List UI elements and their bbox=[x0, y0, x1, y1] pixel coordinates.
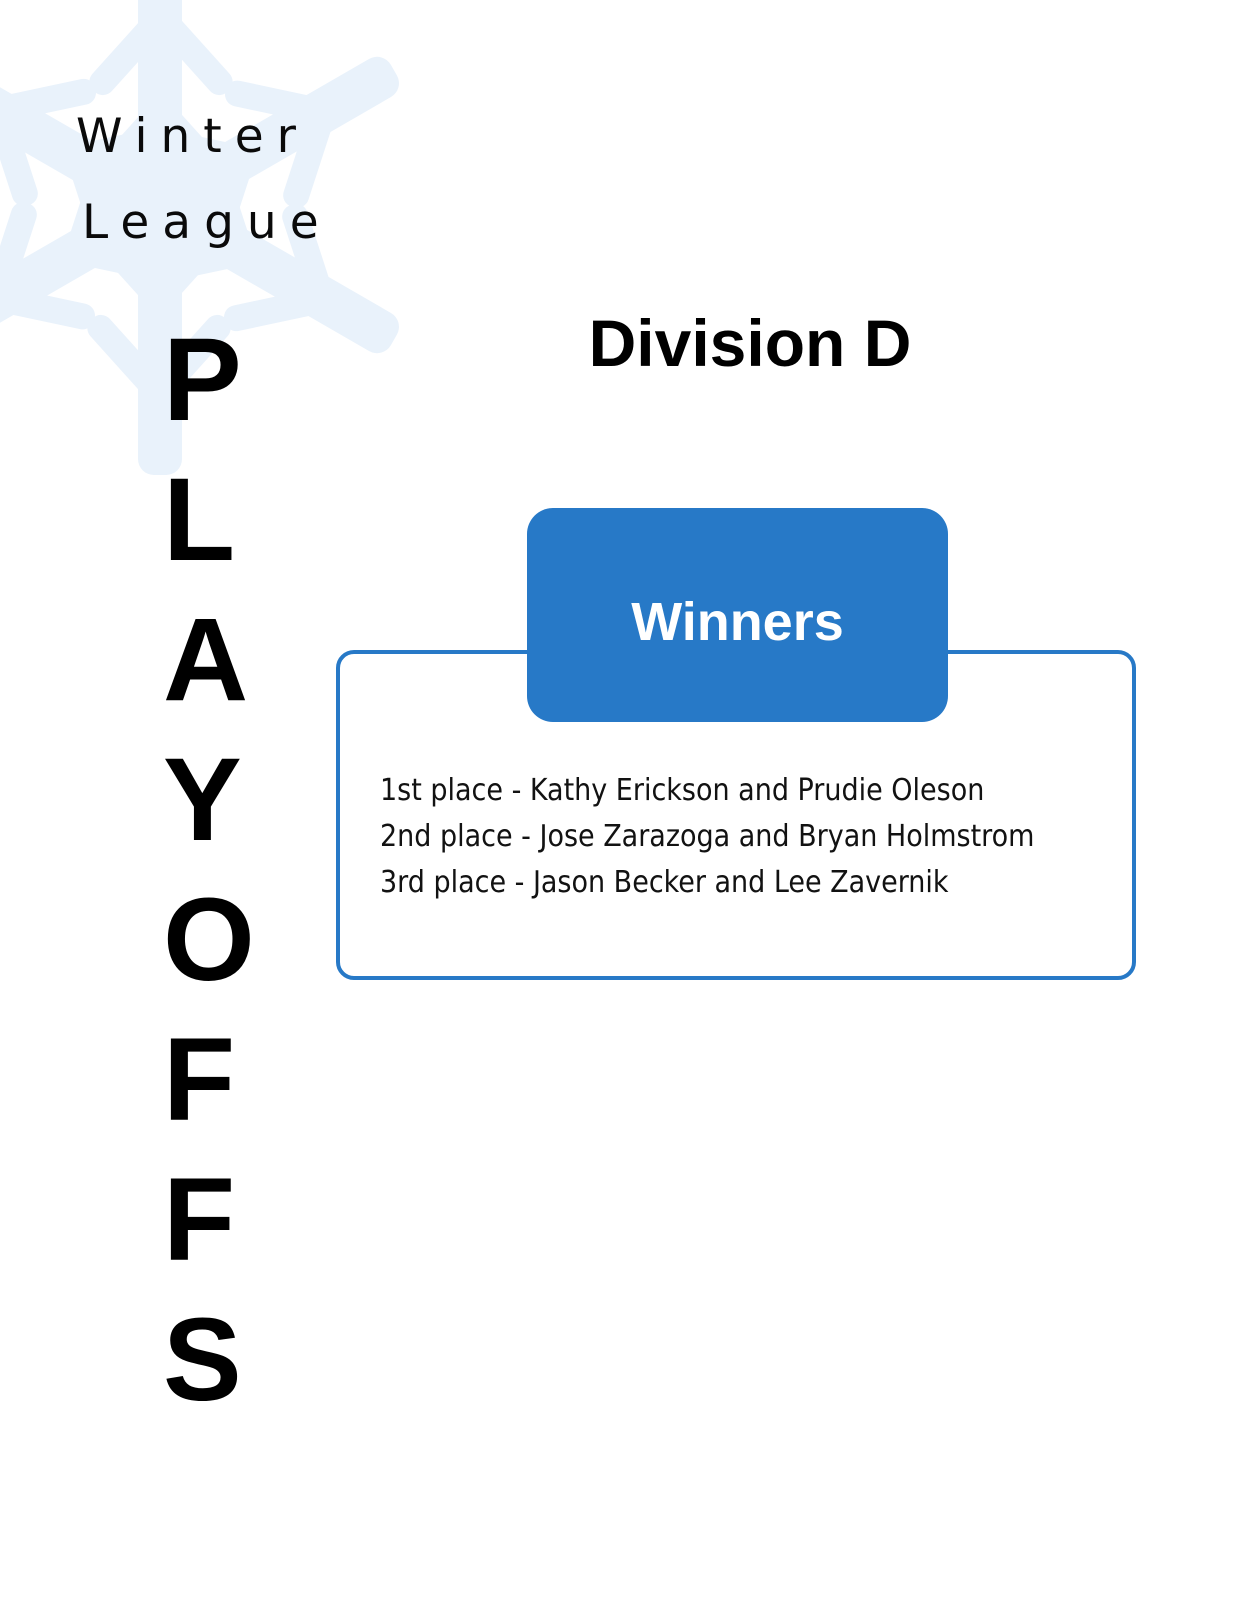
playoffs-poster: Winter League P L A Y O F F S Division D… bbox=[0, 0, 1236, 1600]
playoffs-letter-p: P bbox=[163, 310, 255, 450]
winners-tab: Winners bbox=[527, 508, 948, 722]
division-title: Division D bbox=[410, 303, 1090, 383]
playoffs-letter-o: O bbox=[163, 870, 255, 1010]
playoffs-letter-l: L bbox=[163, 450, 255, 590]
playoffs-letter-f2: F bbox=[163, 1150, 255, 1290]
winner-line-3rd: 3rd place - Jason Becker and Lee Zaverni… bbox=[380, 860, 1120, 906]
winner-line-1st: 1st place - Kathy Erickson and Prudie Ol… bbox=[380, 768, 1120, 814]
playoffs-letter-y: Y bbox=[163, 730, 255, 870]
playoffs-letter-s: S bbox=[163, 1290, 255, 1430]
league-heading-line-2: League bbox=[60, 180, 400, 266]
playoffs-letter-f1: F bbox=[163, 1010, 255, 1150]
playoffs-vertical-word: P L A Y O F F S bbox=[163, 310, 255, 1430]
winners-list: 1st place - Kathy Erickson and Prudie Ol… bbox=[380, 768, 1120, 906]
winners-tab-label: Winners bbox=[631, 592, 844, 652]
league-heading: Winter League bbox=[60, 94, 400, 266]
winner-line-2nd: 2nd place - Jose Zarazoga and Bryan Holm… bbox=[380, 814, 1120, 860]
playoffs-letter-a: A bbox=[163, 590, 255, 730]
league-heading-line-1: Winter bbox=[60, 94, 400, 180]
